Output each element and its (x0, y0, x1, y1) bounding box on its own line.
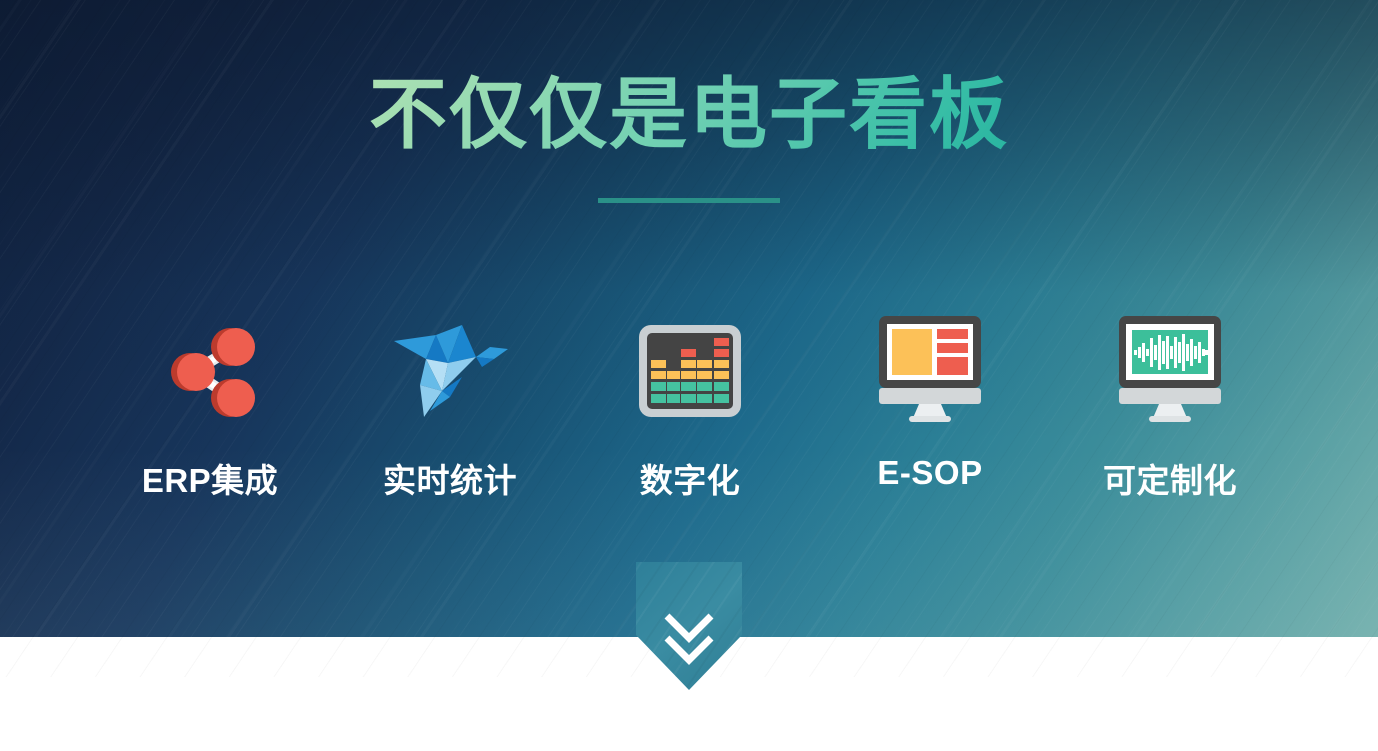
icon-container (879, 312, 981, 430)
equalizer-board-icon (638, 324, 742, 418)
title-divider (598, 198, 780, 203)
feature-label: ERP集成 (142, 454, 278, 502)
feature-label: 可定制化 (1103, 454, 1237, 502)
origami-bird-icon (390, 319, 510, 423)
hero-banner: 不仅仅是电子看板 (0, 0, 1378, 637)
feature-label: 实时统计 (383, 454, 517, 502)
feature-item-customizable[interactable]: 可定制化 (1070, 312, 1270, 502)
icon-container (1119, 312, 1221, 430)
icon-container (158, 312, 262, 430)
feature-label: 数字化 (640, 454, 741, 502)
icon-container (638, 312, 742, 430)
page-title: 不仅仅是电子看板 (0, 72, 1378, 156)
feature-list: ERP集成 (110, 312, 1270, 502)
feature-item-erp[interactable]: ERP集成 (110, 312, 310, 502)
icon-container (390, 312, 510, 430)
feature-item-esop[interactable]: E-SOP (830, 312, 1030, 492)
monitor-waveform-icon (1119, 316, 1221, 426)
double-chevron-down-icon[interactable] (658, 610, 720, 666)
feature-label: E-SOP (877, 454, 982, 492)
feature-item-digitization[interactable]: 数字化 (590, 312, 790, 502)
feature-item-realtime-stats[interactable]: 实时统计 (350, 312, 550, 502)
scroll-down-tab[interactable] (636, 562, 742, 690)
share-network-icon (158, 319, 262, 423)
monitor-layout-icon (879, 316, 981, 426)
